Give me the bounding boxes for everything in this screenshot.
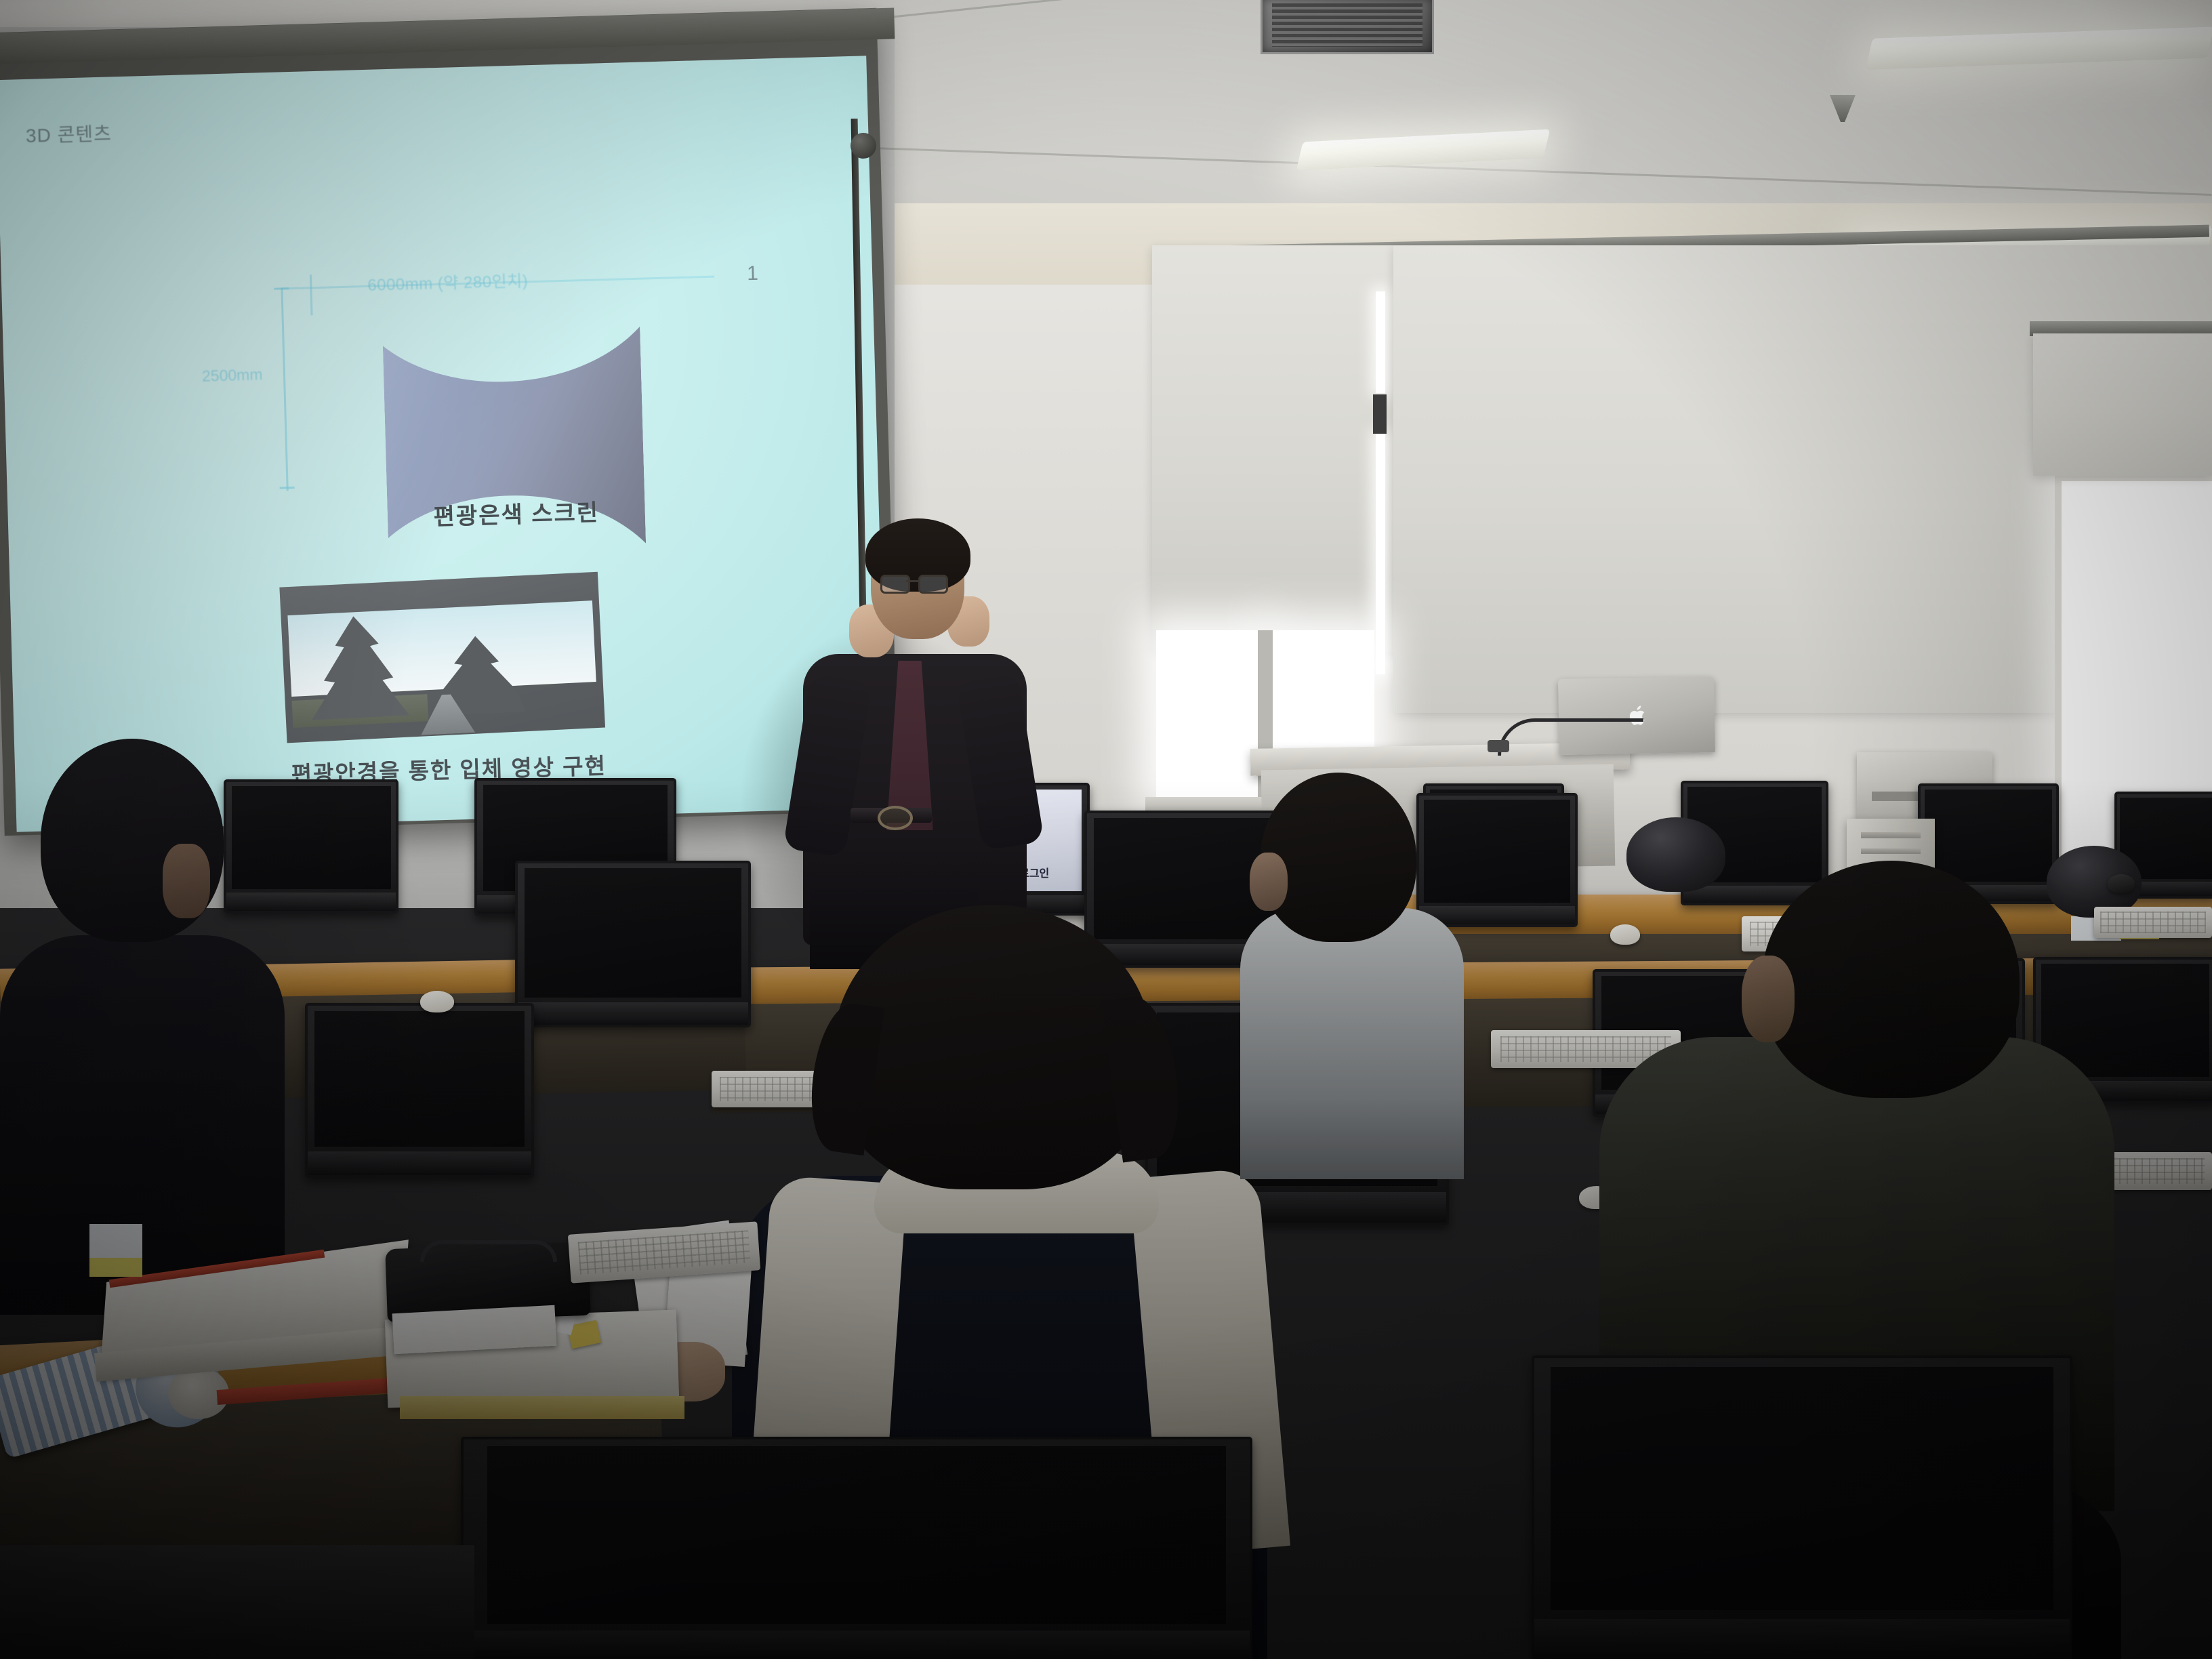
monitor[interactable] xyxy=(1416,793,1578,927)
student-right-ear xyxy=(1742,956,1795,1042)
keyboard[interactable] xyxy=(2094,907,2212,938)
monitor-foreground[interactable] xyxy=(1532,1355,2072,1659)
classroom-photo: 3D 콘텐츠 1 6000mm (약 280인치) 2500mm 편광은색 스크… xyxy=(0,0,2212,1659)
dimension-label-height: 2500mm xyxy=(202,365,263,385)
slide-title: 3D 콘텐츠 xyxy=(25,119,112,148)
student-left-front-body xyxy=(0,935,285,1315)
monitor-screen xyxy=(232,786,391,889)
monitor-screen xyxy=(525,868,741,997)
pc-drive-bay xyxy=(1861,848,1921,855)
student-right-head xyxy=(1762,861,2020,1098)
student-middle-grey-head xyxy=(1261,773,1416,942)
monitor-bezel xyxy=(1419,906,1575,924)
student-center-scarf-hair xyxy=(834,905,1152,1189)
pouch-handle xyxy=(420,1240,557,1262)
slide-caption-upper: 편광은색 스크린 xyxy=(373,492,659,533)
monitor-bezel xyxy=(1534,1619,2070,1659)
loose-paper xyxy=(392,1305,557,1354)
dimension-line-vertical xyxy=(281,287,288,491)
eyeglasses-bridge xyxy=(906,580,918,582)
photo-sky xyxy=(287,600,596,697)
dimension-tick xyxy=(280,487,295,489)
student-left-front-ear xyxy=(163,844,210,918)
blind-pull-stop xyxy=(1373,394,1387,434)
dimension-tick xyxy=(274,287,289,290)
monitor-sticker-yellow xyxy=(89,1258,142,1277)
window-pane xyxy=(1156,630,1258,800)
mouse[interactable] xyxy=(420,991,454,1012)
monitor-foreground[interactable] xyxy=(461,1437,1252,1659)
monitor-bezel xyxy=(308,1151,531,1175)
roller-blind-far-right[interactable] xyxy=(2033,333,2212,476)
monitor-bezel xyxy=(226,893,396,911)
dimension-label-width: 6000mm (약 280인치) xyxy=(367,267,529,295)
slide-photo xyxy=(279,572,605,743)
monitor[interactable] xyxy=(305,1003,534,1178)
monitor-sticker xyxy=(89,1224,142,1259)
helmet xyxy=(1626,817,1725,892)
student-middle-grey-body xyxy=(1240,908,1464,1179)
eyeglasses-icon xyxy=(918,575,948,594)
monitor-screen xyxy=(314,1011,525,1147)
pc-drive-bay xyxy=(1861,832,1921,838)
monitor[interactable] xyxy=(224,779,398,914)
eyeglasses-icon xyxy=(880,575,910,594)
dimension-tick-vertical xyxy=(310,274,313,315)
screen-mount-knob xyxy=(851,133,876,159)
mouse[interactable] xyxy=(2108,874,2135,893)
desk-divider-panel xyxy=(0,1545,474,1659)
monitor[interactable] xyxy=(515,861,751,1027)
presenter-belt-buckle xyxy=(878,806,913,830)
air-vent-icon xyxy=(1261,0,1434,54)
monitor-bezel xyxy=(464,1631,1250,1659)
monitor-screen xyxy=(1551,1367,2054,1610)
window-light-slit xyxy=(1376,291,1385,393)
window-light-slit xyxy=(1376,434,1385,674)
student-middle-ear xyxy=(1250,853,1288,911)
monitor-screen xyxy=(487,1446,1226,1624)
slide-number: 1 xyxy=(747,262,759,285)
monitor-bezel xyxy=(518,1002,748,1025)
monitor-screen xyxy=(1424,800,1570,903)
monitor-screen xyxy=(1925,790,2052,882)
cable-connector xyxy=(1488,740,1509,752)
mouse[interactable] xyxy=(1610,924,1640,945)
book-page-edge-yellow xyxy=(400,1396,684,1419)
podium-cable xyxy=(1498,718,1643,756)
